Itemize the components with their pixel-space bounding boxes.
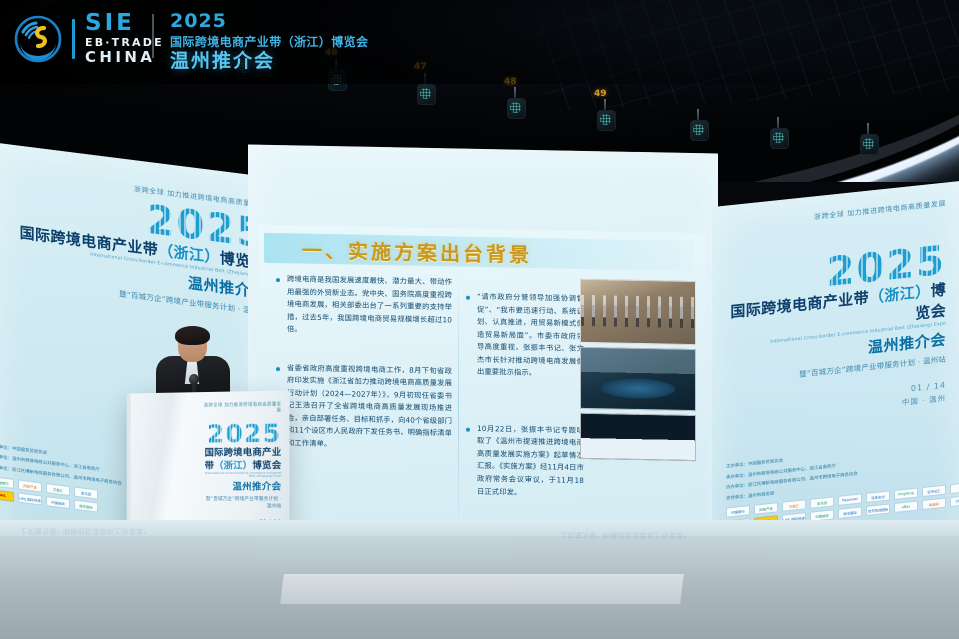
sponsor-logo: 空中云汇 — [922, 485, 946, 498]
photo-delegation-lobby — [580, 279, 696, 345]
brand-line2: 温州推介会 — [203, 479, 281, 492]
sponsor-logo: PingPong — [894, 487, 918, 500]
conference-stage-scene: 46 47 48 49 浙跨全球 加力推进跨境电商高质量 — [0, 0, 959, 639]
brand-block-left: 浙跨全球 加力推进跨境电商高质量发展 2025 国际跨境电商产业带（浙江）博览会… — [16, 169, 256, 318]
sponsor-logo: UPS 国际快递 — [18, 492, 42, 505]
sponsor-logo: Shopee — [950, 495, 959, 508]
sponsor-logo: 亚马逊 — [810, 496, 834, 509]
sponsor-logo: 顺丰国际 — [74, 500, 98, 513]
slide-photo-column — [580, 279, 694, 465]
presentation-slide: 一、实施方案出台背景 跨境电商是我国发展速度最快、潜力最大、带动作用最强的外贸新… — [258, 225, 706, 564]
sponsor-logo: 网易严选 — [18, 479, 42, 492]
header-event-name: 国际跨境电商产业带（浙江）博览会 — [170, 36, 368, 48]
sponsor-logo: 菜鸟 — [950, 482, 959, 495]
slide-column-right: “请市政府分管领导加强协调督促”、“我市要迅速行动、系统谋划、认真推进，用贸易新… — [464, 277, 584, 514]
sponsor-logo: 连连支付 — [866, 490, 890, 503]
sie-wave-logo-icon — [14, 15, 62, 63]
slide-bullet-text: 省委省政府高度重视跨境电商工作，8月下旬省政府印发实施《浙江省加力推动跨境电商高… — [287, 362, 452, 453]
sponsor-logo: 敦煌网 — [922, 498, 946, 511]
sponsor-logo: 京东物流国际 — [866, 503, 890, 516]
floor-reflection-text: 上实施方案“ 明确指标清单和工作清单” — [20, 526, 147, 536]
slide-bullet: “请市政府分管领导加强协调督促”、“我市要迅速行动、系统谋划、认真推进，用贸易新… — [464, 291, 584, 381]
sponsor-logo: 中国邮政 — [46, 496, 70, 509]
header-title-block: 2025 国际跨境电商产业带（浙江）博览会 温州推介会 — [170, 12, 368, 71]
slide-bullet: 跨境电商是我国发展速度最快、潜力最大、带动作用最强的外贸新业态。党中央、国务院高… — [274, 273, 452, 339]
slide-column-left: 跨境电商是我国发展速度最快、潜力最大、带动作用最强的外贸新业态。党中央、国务院高… — [274, 273, 452, 467]
sponsor-logo: 万里汇 — [46, 483, 70, 496]
photo-stage-presentation — [580, 413, 696, 461]
photo-conference-meeting — [580, 347, 696, 411]
floor-reflection-text: 上实施方案“ 明确指标清单和工作清单” — [560, 530, 687, 540]
slide-bullet-text: 10月22日，张振丰书记专题听取了《温州市提速推进跨境电商高质量发展实施方案》起… — [477, 423, 584, 500]
sponsor-logo: DHL — [0, 489, 14, 502]
microphone-head-icon — [189, 374, 199, 385]
brand-line1: 国际跨境电商产业带（浙江）博览会 — [203, 445, 281, 472]
sponsor-logo: 网易严选 — [754, 502, 778, 515]
speaker-hair — [175, 326, 210, 345]
event-logo: SIE EB·TRADE CHINA — [14, 12, 164, 65]
header-event-subtitle: 温州推介会 — [170, 52, 368, 71]
column-divider — [458, 273, 459, 541]
sponsor-logo: 顺丰国际 — [838, 506, 862, 519]
brand-subtitle: 暨“百城万企”跨境产业带服务计划 · 温州站 — [203, 495, 281, 509]
sponsor-logo: 亚马逊 — [74, 487, 98, 500]
brand-tagline: 浙跨全球 加力推进跨境电商高质量发展 — [718, 199, 946, 233]
sponsor-logo: Payoneer — [838, 493, 862, 506]
sponsor-logo: eBay — [894, 500, 918, 513]
sponsor-logo: 中国银行 — [726, 505, 750, 518]
stage-step — [280, 574, 684, 604]
logo-divider — [72, 19, 75, 59]
slide-bullet-text: 跨境电商是我国发展速度最快、潜力最大、带动作用最强的外贸新业态。党中央、国务院高… — [287, 273, 452, 339]
led-panel-center: 一、实施方案出台背景 跨境电商是我国发展速度最快、潜力最大、带动作用最强的外贸新… — [248, 144, 718, 581]
sponsor-logo: 万里汇 — [782, 499, 806, 512]
header-divider — [152, 14, 154, 58]
brand-tagline: 浙跨全球 加力推进跨境电商高质量发展 — [203, 401, 281, 415]
slide-title: 一、实施方案出台背景 — [302, 235, 532, 268]
brand-year: 2025 — [203, 422, 281, 445]
brand-block-right: 浙跨全球 加力推进跨境电商高质量发展 2025 国际跨境电商产业带（浙江）博览会… — [718, 199, 946, 428]
slide-bullet: 省委省政府高度重视跨境电商工作，8月下旬省政府印发实施《浙江省加力推动跨境电商高… — [274, 362, 452, 453]
stage-floor: 上实施方案“ 明确指标清单和工作清单” 上实施方案“ 明确指标清单和工作清单” — [0, 520, 959, 639]
slide-bullet-text: “请市政府分管领导加强协调督促”、“我市要迅速行动、系统谋划、认真推进，用贸易新… — [477, 291, 584, 381]
stage-lamp-number: 47 — [414, 62, 427, 72]
sponsor-logo: 中国银行 — [0, 476, 14, 489]
brand-block-podium: 浙跨全球 加力推进跨境电商高质量发展 2025 国际跨境电商产业带（浙江）博览会… — [203, 401, 281, 534]
header-year: 2025 — [170, 12, 368, 31]
floor-reflection: 上实施方案“ 明确指标清单和工作清单” 上实施方案“ 明确指标清单和工作清单” — [0, 520, 959, 580]
slide-bullet: 10月22日，张振丰书记专题听取了《温州市提速推进跨境电商高质量发展实施方案》起… — [464, 422, 584, 500]
brand-english: International Cross-border E-commerce In… — [203, 472, 281, 479]
